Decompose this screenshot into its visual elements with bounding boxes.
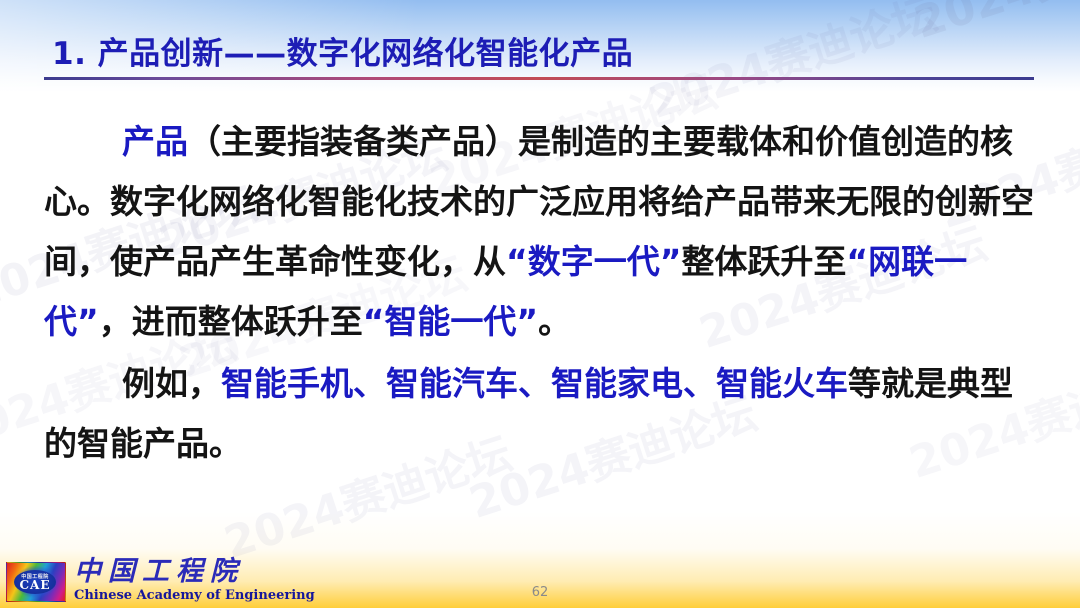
body-text-5: 跃升至 xyxy=(747,242,846,281)
page-number: 62 xyxy=(0,585,1080,600)
keyword-zhineng-yidai: “智能一代” xyxy=(363,302,538,341)
slide-body: 产品（主要指装备类产品）是制造的主要载体和价值创造的核心。数字化网络化智能化技术… xyxy=(44,112,1044,474)
body-text-4: 整体 xyxy=(681,242,747,281)
body-text-6: ，进而整体跃升至 xyxy=(99,302,363,341)
keyword-shuzi-yidai: “数字一代” xyxy=(506,242,681,281)
watermark-text: 2024赛迪论坛 xyxy=(905,0,1080,51)
body-paragraph-2: 例如，智能手机、智能汽车、智能家电、智能火车等就是典型的智能产品。 xyxy=(44,354,1044,474)
org-name-cn: 中国工程院 xyxy=(74,557,315,587)
body-text-8: 例如， xyxy=(122,364,221,403)
body-text-7: 。 xyxy=(538,302,571,341)
keyword-chanpin: 产品 xyxy=(122,122,188,161)
keyword-smart-product-list: 智能手机、智能汽车、智能家电、智能火车 xyxy=(221,364,848,403)
body-text-9: 等就是 xyxy=(848,364,947,403)
presentation-slide: 2024赛迪论坛2024赛迪论坛2024赛迪论坛2024赛迪论坛2024赛迪论坛… xyxy=(0,0,1080,608)
body-text-1: （主要指装备类产品）是制造的主要载体和价值创造 xyxy=(188,122,947,161)
slide-title: 1. 产品创新——数字化网络化智能化产品 xyxy=(52,28,633,73)
title-divider-rule xyxy=(44,77,1034,80)
body-paragraph-1: 产品（主要指装备类产品）是制造的主要载体和价值创造的核心。数字化网络化智能化技术… xyxy=(44,112,1044,352)
